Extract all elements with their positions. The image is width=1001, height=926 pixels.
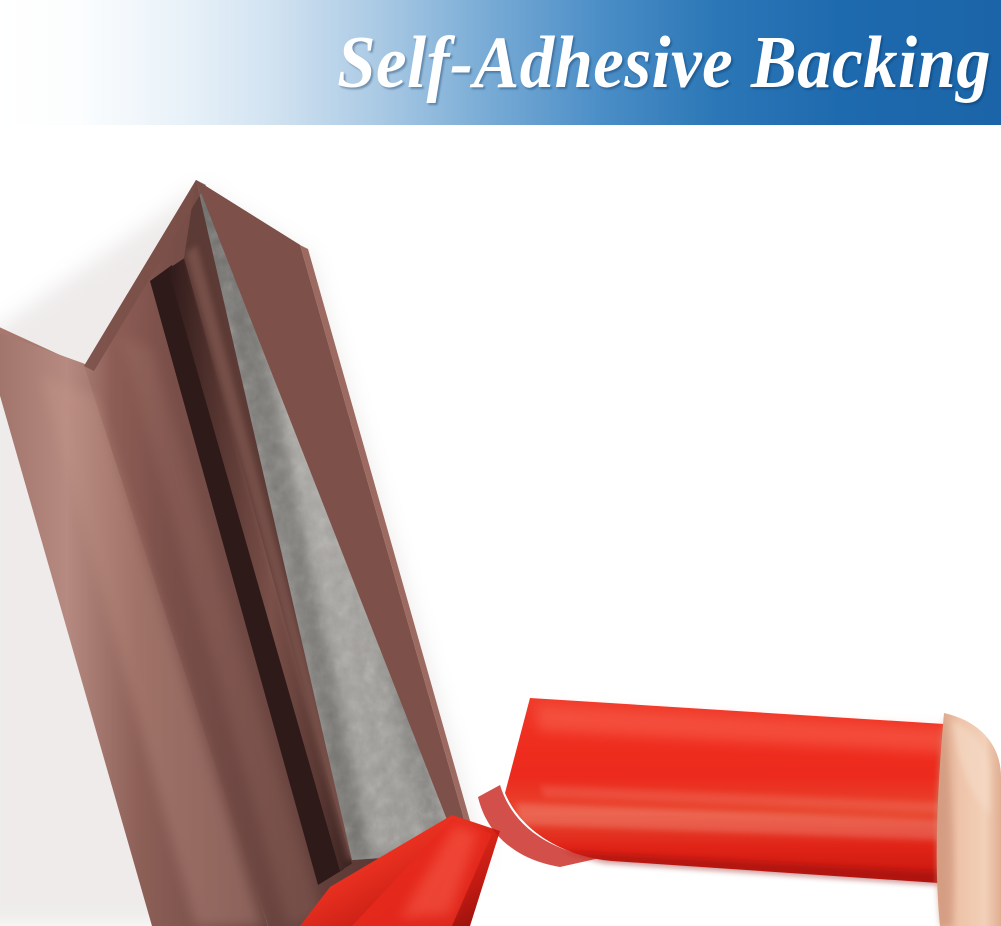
- product-photo-illustration: [0, 125, 1001, 926]
- product-feature-image: Self-Adhesive Backing The flexible floor…: [0, 0, 1001, 926]
- hand-finger: [936, 713, 1001, 926]
- header-banner: Self-Adhesive Backing: [0, 0, 1001, 125]
- product-photo: [0, 125, 1001, 926]
- banner-title: Self-Adhesive Backing: [288, 26, 991, 100]
- banner-title-text: Self-Adhesive Backing: [337, 26, 991, 100]
